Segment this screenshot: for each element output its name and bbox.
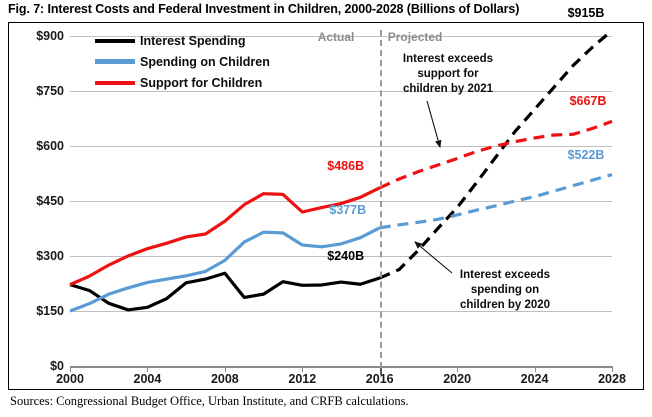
legend-item-interest: Interest Spending <box>95 30 270 51</box>
annotation-interest-exceeds-support: Interest exceedssupport forchildren by 2… <box>378 52 518 97</box>
y-axis-tick-label: $900 <box>36 29 64 43</box>
annotation-interest-exceeds-spending: Interest exceedsspending onchildren by 2… <box>430 268 580 313</box>
y-axis-tick-label: $450 <box>36 194 64 208</box>
legend-label: Interest Spending <box>140 34 246 48</box>
y-axis-tick-label: $0 <box>50 359 64 373</box>
legend-label: Support for Children <box>140 76 262 90</box>
annotation-line: children by 2021 <box>378 82 518 97</box>
annotation-line: support for <box>378 67 518 82</box>
x-axis-tick-label: 2012 <box>288 372 316 386</box>
x-axis-tick-label: 2008 <box>211 372 239 386</box>
y-axis-labels: $0$150$300$450$600$750$900 <box>14 36 64 366</box>
annotation-line: children by 2020 <box>430 298 580 313</box>
legend-swatch-icon <box>95 81 135 85</box>
legend-label: Spending on Children <box>140 55 270 69</box>
x-axis-tick-label: 2028 <box>598 372 626 386</box>
legend-swatch-icon <box>95 39 135 43</box>
x-axis-tick-label: 2004 <box>134 372 162 386</box>
data-label-support-2028: $667B <box>570 94 607 108</box>
annotation-line: Interest exceeds <box>378 52 518 67</box>
data-label-interest-2016: $240B <box>327 249 364 263</box>
series-line-spending_on_children-actual <box>70 228 380 311</box>
x-axis-tick-label: 2020 <box>443 372 471 386</box>
y-axis-tick-label: $750 <box>36 84 64 98</box>
data-label-interest-2028: $915B <box>568 6 605 20</box>
figure-title: Fig. 7: Interest Costs and Federal Inves… <box>8 2 648 16</box>
legend-swatch-icon <box>95 59 135 64</box>
projected-label: Projected <box>388 30 443 44</box>
x-axis-tick-label: 2016 <box>366 372 394 386</box>
y-axis-tick-label: $150 <box>36 304 64 318</box>
data-label-spending-2028: $522B <box>568 148 605 162</box>
x-axis-tick-label: 2024 <box>521 372 549 386</box>
series-line-spending_on_children-projected <box>380 175 612 228</box>
y-axis-tick-label: $600 <box>36 139 64 153</box>
source-note: Sources: Congressional Budget Office, Ur… <box>10 394 640 409</box>
legend-item-spending_on_children: Spending on Children <box>95 51 270 72</box>
legend-item-support_for_children: Support for Children <box>95 72 270 93</box>
x-axis-tick-label: 2000 <box>56 372 84 386</box>
x-axis-line <box>70 366 612 368</box>
actual-label: Actual <box>318 30 355 44</box>
chart-legend: Interest SpendingSpending on ChildrenSup… <box>95 30 270 93</box>
chart-figure: Fig. 7: Interest Costs and Federal Inves… <box>0 0 652 417</box>
y-axis-tick-label: $300 <box>36 249 64 263</box>
data-label-spending-2016: $377B <box>329 203 366 217</box>
data-label-support-2016: $486B <box>327 159 364 173</box>
annotation-line: spending on <box>430 283 580 298</box>
annotation-line: Interest exceeds <box>430 268 580 283</box>
